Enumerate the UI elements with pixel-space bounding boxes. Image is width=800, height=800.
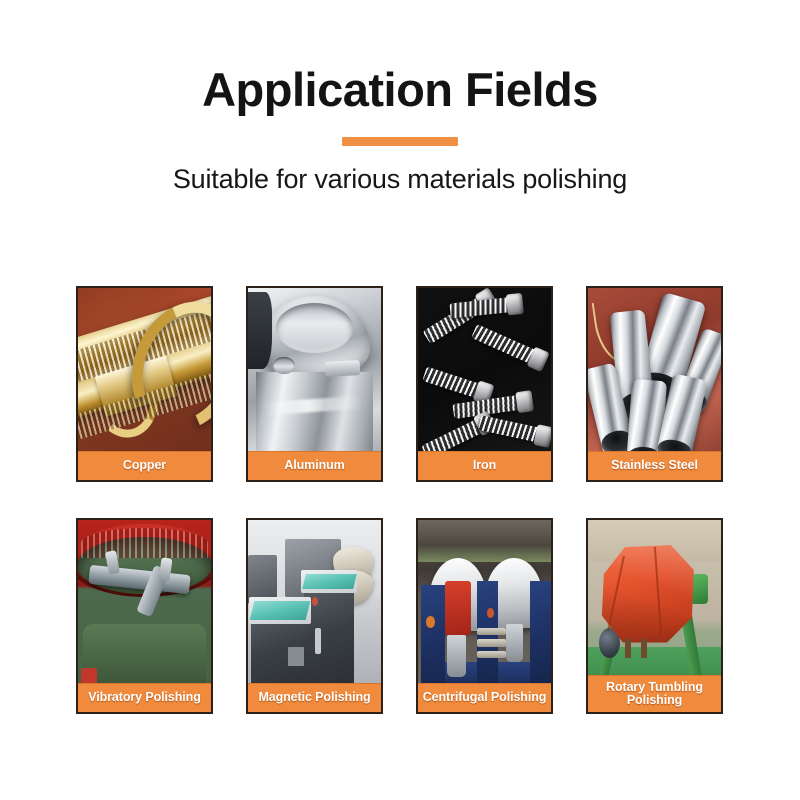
card-label-text: Centrifugal Polishing [423,691,547,705]
card-label-stainless-steel: Stainless Steel [588,451,721,480]
card-label-text: Copper [123,459,166,473]
screw-shape [471,324,543,367]
screw-shape [478,416,546,444]
card-label-text: Magnetic Polishing [258,691,370,705]
divider-wrapper [0,136,800,146]
application-card-magnetic-polishing[interactable]: Magnetic Polishing [246,518,383,714]
centrifugal-bucket-shape [506,624,523,662]
card-label-magnetic-polishing: Magnetic Polishing [248,683,381,712]
centrifugal-tray-shape [477,628,506,636]
vibratory-rim-ridges [81,528,209,559]
screw-shape [423,367,488,401]
rotary-leg-shape [641,639,646,658]
copper-texture-upper [78,308,211,384]
centrifugal-frame-shape [530,581,551,689]
page-title: Application Fields [0,62,800,117]
application-card-rotary-tumbling-polishing[interactable]: Rotary Tumbling Polishing [586,518,723,714]
aluminum-tab-shape [325,360,360,377]
card-label-text: Stainless Steel [611,459,698,473]
rotary-leg-shape [625,639,630,658]
card-label-vibratory-polishing: Vibratory Polishing [78,683,211,712]
page-header: Application Fields Suitable for various … [0,0,800,196]
screw-shape [449,296,517,318]
card-label-centrifugal-polishing: Centrifugal Polishing [418,683,551,712]
centrifugal-knob-shape [487,608,494,618]
application-card-stainless-steel[interactable]: Stainless Steel [586,286,723,482]
application-card-vibratory-polishing[interactable]: Vibratory Polishing [76,518,213,714]
card-label-iron: Iron [418,451,551,480]
application-card-iron[interactable]: Iron [416,286,553,482]
card-label-text: Aluminum [284,459,344,473]
card-label-text: Rotary Tumbling Polishing [606,681,703,708]
centrifugal-background-shape [418,520,551,562]
centrifugal-tray-shape [477,639,506,647]
application-card-grid: Copper Aluminum [76,286,724,714]
card-label-text: Vibratory Polishing [88,691,200,705]
vibratory-base-shape [83,624,205,689]
card-label-text: Iron [473,459,496,473]
materials-row: Copper Aluminum [76,286,724,482]
card-label-aluminum: Aluminum [248,451,381,480]
magnetic-handle-shape [315,628,322,655]
application-fields-page: Application Fields Suitable for various … [0,0,800,800]
centrifugal-tray-shape [477,651,506,659]
application-card-centrifugal-polishing[interactable]: Centrifugal Polishing [416,518,553,714]
centrifugal-frame-shape [477,581,498,692]
centrifugal-knob-shape [426,616,435,628]
application-card-copper[interactable]: Copper [76,286,213,482]
magnetic-water-surface [302,574,356,589]
centrifugal-bucket-shape [447,635,466,677]
card-label-rotary-tumbling-polishing: Rotary Tumbling Polishing [588,675,721,714]
aluminum-boss-shape [273,357,294,374]
application-card-aluminum[interactable]: Aluminum [246,286,383,482]
magnetic-plate-shape [288,647,304,666]
accent-divider [342,137,458,146]
page-subtitle: Suitable for various materials polishing [0,163,800,195]
processes-row: Vibratory Polishing [76,518,724,714]
centrifugal-red-barrel [445,581,472,635]
card-label-copper: Copper [78,451,211,480]
aluminum-shadow-shape [248,292,272,369]
magnetic-water-surface [250,601,311,620]
